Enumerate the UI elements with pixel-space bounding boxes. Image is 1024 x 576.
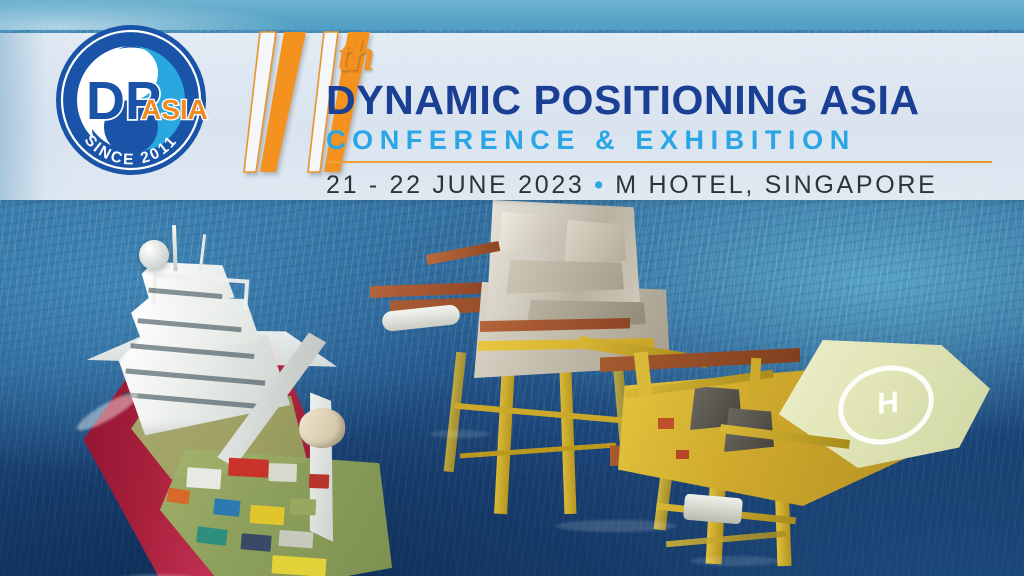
event-date-venue-line: 21 - 22 JUNE 2023 • M HOTEL, SINGAPORE (326, 171, 998, 199)
dp-asia-logo[interactable]: DP ASIA SINCE 2011 (52, 21, 210, 179)
event-title: DYNAMIC POSITIONING ASIA (326, 78, 998, 122)
wellhead-platform-with-helideck: H (600, 322, 1020, 576)
event-subtitle: CONFERENCE & EXHIBITION (326, 124, 998, 156)
logo-asia-text: ASIA (141, 94, 208, 125)
date-venue-separator: • (594, 171, 605, 199)
vessel-cable-drum (299, 407, 346, 449)
title-divider-rule (326, 161, 992, 163)
event-venue: M HOTEL, SINGAPORE (615, 171, 937, 199)
event-title-block: DYNAMIC POSITIONING ASIA CONFERENCE & EX… (326, 78, 998, 199)
offshore-support-vessel (54, 209, 426, 576)
banner-image: H (0, 0, 1024, 576)
vessel-mast (172, 225, 178, 271)
event-dates: 21 - 22 JUNE 2023 (326, 171, 585, 199)
edition-suffix-th: th (338, 30, 375, 81)
helideck-h-marking: H (868, 382, 908, 426)
